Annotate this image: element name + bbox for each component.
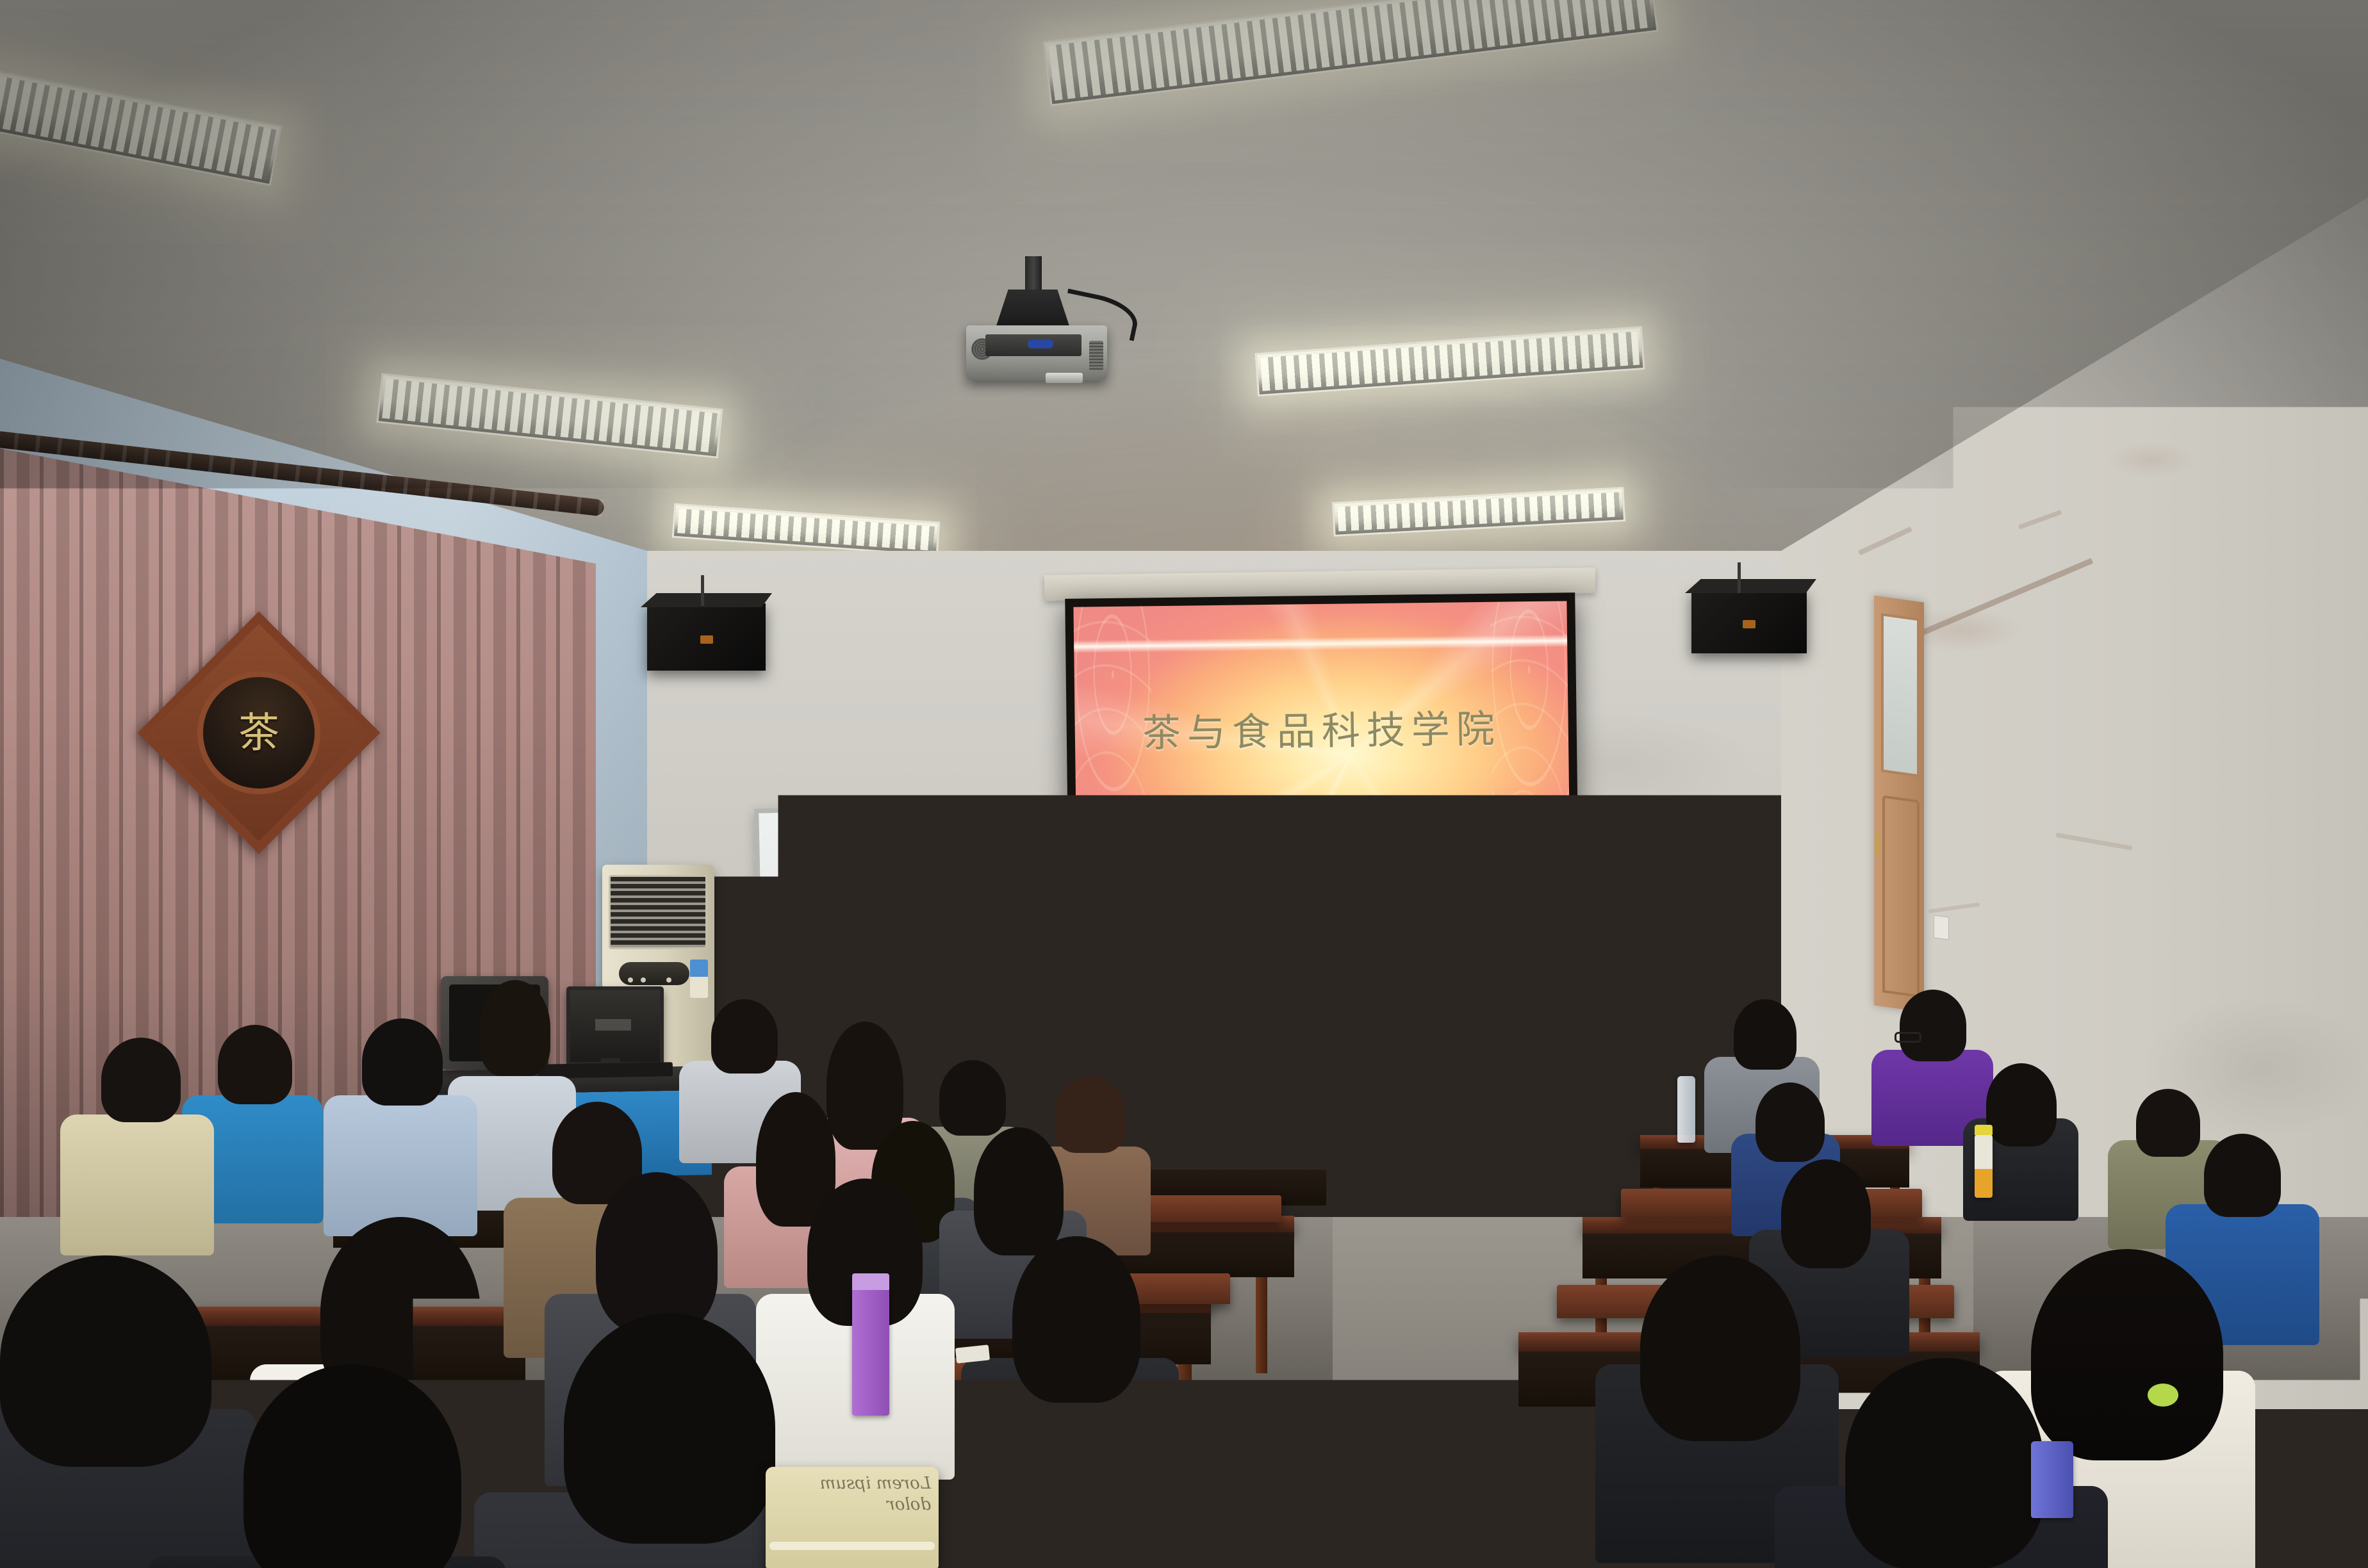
person-hair xyxy=(2031,1249,2223,1460)
clear-water-bottle[interactable] xyxy=(1677,1076,1695,1143)
energy-label-sticker xyxy=(690,960,708,998)
whiteboard-clip xyxy=(926,801,937,811)
person-hair xyxy=(362,1018,443,1106)
whiteboard-smudge xyxy=(798,856,844,874)
presenter-glasses xyxy=(1178,920,1211,929)
person-hair xyxy=(1755,1082,1825,1162)
person-hair xyxy=(480,980,550,1076)
slide-date: 2012年 10 月 xyxy=(1373,927,1538,958)
person-glasses xyxy=(1895,1032,1921,1043)
projector-port-panel xyxy=(985,334,1081,356)
podium-side-panel xyxy=(1328,1033,1380,1244)
bag-zipper[interactable] xyxy=(769,1542,935,1550)
bag-script-print: Lorem ipsum dolor xyxy=(773,1473,931,1515)
orange-juice-bottle[interactable] xyxy=(1975,1134,1993,1198)
door-lower-panel xyxy=(1882,795,1920,997)
slide-title-line1: 茶与食品科技学院 xyxy=(1074,697,1568,758)
light-switch[interactable] xyxy=(1934,915,1949,940)
person-hair xyxy=(1734,999,1797,1070)
purple-water-bottle[interactable] xyxy=(852,1287,889,1416)
whiteboard-smudge xyxy=(908,905,966,926)
person-torso xyxy=(324,1095,477,1236)
projector-side-grille xyxy=(1089,341,1103,370)
plaque-character: 茶 xyxy=(238,712,279,753)
projector-vga-port xyxy=(1028,339,1053,348)
door-glass-panel xyxy=(1881,613,1920,777)
person-hair xyxy=(218,1025,292,1104)
person-hair xyxy=(101,1038,181,1122)
door-hinge xyxy=(1875,833,1880,855)
bottle-cap xyxy=(852,1273,889,1290)
hair-tie xyxy=(2148,1384,2178,1407)
projector-icon xyxy=(966,325,1107,380)
whiteboard-clip xyxy=(792,803,802,813)
presenter xyxy=(1147,898,1243,1026)
projector-ceiling-pole xyxy=(1025,256,1042,295)
person-hair xyxy=(2204,1134,2281,1217)
air-conditioner-control-panel[interactable] xyxy=(619,962,689,985)
person-torso xyxy=(60,1115,214,1255)
desk-leg xyxy=(1178,1364,1192,1492)
speaker-bracket xyxy=(1738,562,1741,593)
person-hair xyxy=(1055,1076,1125,1153)
person-hair xyxy=(974,1127,1064,1255)
speaker-top-face xyxy=(641,593,772,607)
person-hair xyxy=(564,1313,775,1544)
projector-lens xyxy=(1046,373,1083,383)
person-hair xyxy=(1012,1236,1140,1403)
podium-text-line1: 农业大学 xyxy=(1083,1041,1294,1083)
person-hair xyxy=(2136,1089,2200,1157)
wall-speaker-left xyxy=(647,603,766,671)
person-hair xyxy=(711,999,778,1074)
canvas-tote-bag[interactable]: Lorem ipsum dolor xyxy=(766,1467,939,1568)
speaker-top-face xyxy=(1685,579,1816,593)
wall-speaker-right xyxy=(1691,589,1807,653)
person-hair xyxy=(1900,990,1966,1061)
speaker-logo xyxy=(700,635,713,644)
classroom-door[interactable] xyxy=(1874,596,1924,1013)
desk-leg xyxy=(1256,1277,1267,1373)
air-conditioner-grille xyxy=(609,875,707,949)
lcd-monitor xyxy=(566,986,664,1066)
speaker-logo xyxy=(1743,620,1755,628)
projection-screen: 茶与食品科技学院 第47届运动会动员大会 2012年 10 月 xyxy=(1065,592,1579,993)
person-hair xyxy=(1986,1063,2057,1147)
person-hair xyxy=(1640,1255,1800,1441)
speaker-bracket xyxy=(701,575,704,606)
bottle-cap xyxy=(1975,1125,1993,1135)
classroom-photo: 茶 茶与食品科技学院 第47届运动会动员大会 2012年 10 月 xyxy=(0,0,2368,1568)
person-hair xyxy=(939,1060,1006,1136)
desk-leg xyxy=(1536,1407,1550,1535)
person-hair xyxy=(0,1255,211,1467)
person-hair xyxy=(1845,1358,2044,1568)
person-hair xyxy=(1781,1159,1871,1268)
whiteboard xyxy=(754,803,1049,990)
person-hair xyxy=(596,1172,718,1332)
blue-water-bottle[interactable] xyxy=(2031,1441,2073,1518)
